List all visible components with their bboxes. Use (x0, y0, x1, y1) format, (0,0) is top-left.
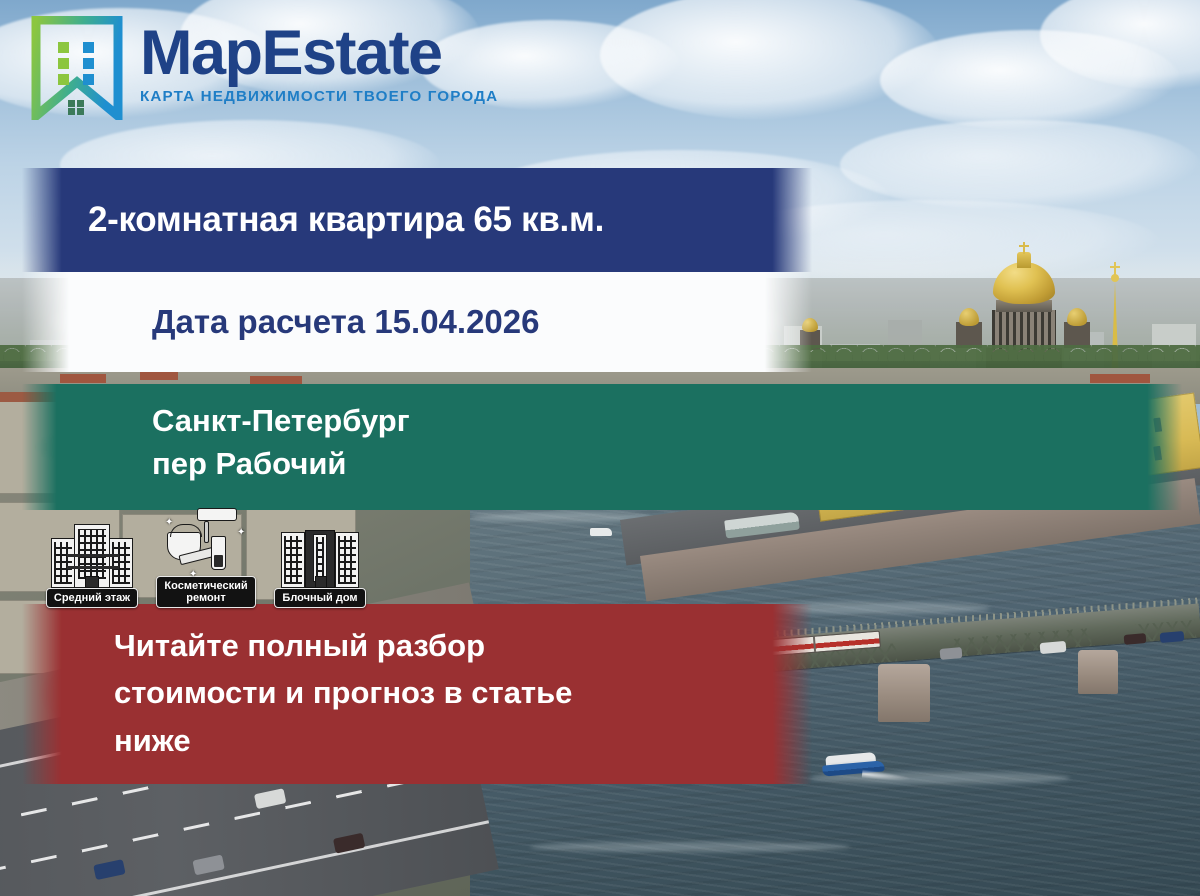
paint-roller-icon (197, 508, 237, 521)
cross-icon (1023, 242, 1025, 254)
renovation-tools-icon: ✦ ✦ ✦ (163, 506, 249, 578)
badge-label: Блочный дом (274, 588, 365, 607)
mid-floor-building-icon (49, 518, 135, 590)
badge-renovation[interactable]: ✦ ✦ ✦ Косметический ремонт (158, 506, 254, 608)
street-name: пер Рабочий (152, 443, 1182, 486)
title-banner: 2-комнатная квартира 65 кв.м. (22, 168, 812, 272)
corner-dome (1067, 308, 1087, 326)
golden-dome (993, 262, 1055, 304)
brand-logo[interactable]: MapEstate КАРТА НЕДВИЖИМОСТИ ТВОЕГО ГОРО… (30, 16, 498, 118)
panel-block-house-icon (277, 518, 363, 590)
title-text: 2-комнатная квартира 65 кв.м. (22, 168, 812, 272)
cloud (840, 120, 1200, 210)
location-banner: Санкт-Петербург пер Рабочий (22, 384, 1182, 510)
city-name: Санкт-Петербург (152, 400, 1182, 443)
cta-text: Читайте полный разбор стоимости и прогно… (22, 604, 812, 784)
brand-text: MapEstate КАРТА НЕДВИЖИМОСТИ ТВОЕГО ГОРО… (140, 16, 498, 105)
cta-line-2: стоимости и прогноз в статье (114, 669, 772, 716)
corner-dome (959, 308, 979, 326)
cta-line-3: ниже (114, 717, 772, 764)
promo-poster: MapEstate КАРТА НЕДВИЖИМОСТИ ТВОЕГО ГОРО… (0, 0, 1200, 896)
paint-brush-icon (211, 536, 226, 570)
badge-label: Косметический ремонт (156, 576, 255, 608)
calculation-date-text: Дата расчета 15.04.2026 (22, 272, 812, 372)
date-banner: Дата расчета 15.04.2026 (22, 272, 812, 372)
brand-tagline: КАРТА НЕДВИЖИМОСТИ ТВОЕГО ГОРОДА (140, 88, 498, 105)
cta-banner: Читайте полный разбор стоимости и прогно… (22, 604, 812, 784)
badge-block-house[interactable]: Блочный дом (272, 518, 368, 607)
brand-name: MapEstate (140, 24, 498, 84)
small-boat (590, 528, 612, 536)
bridge-pier (1078, 650, 1118, 694)
badge-mid-floor[interactable]: Средний этаж (44, 518, 140, 607)
feature-badges: Средний этаж ✦ ✦ ✦ Косметический ремонт (44, 506, 368, 608)
badge-label: Средний этаж (46, 588, 138, 607)
bookmark-building-icon (30, 16, 124, 120)
cta-line-1: Читайте полный разбор (114, 622, 772, 669)
location-text: Санкт-Петербург пер Рабочий (22, 384, 1182, 510)
bridge-pier (878, 664, 930, 722)
